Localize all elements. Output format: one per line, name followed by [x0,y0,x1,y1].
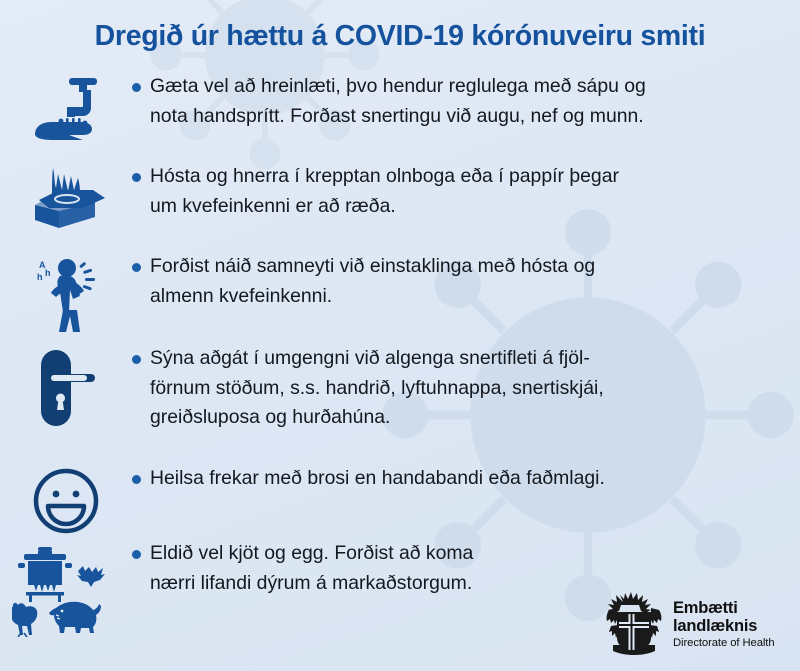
advice-line: almenn kvefeinkenni. [150,282,770,312]
logo-line-3: Directorate of Health [673,636,775,651]
organization-logo: Embætti landlæknis Directorate of Health [603,592,775,658]
logo-text: Embætti landlæknis Directorate of Health [673,599,775,651]
advice-text: Gæta vel að hreinlæti, þvo hendur reglul… [132,72,770,131]
advice-line: nota handsprítt. Forðast snertingu við a… [150,102,770,132]
door-handle-icon [31,346,101,430]
list-item: Gæta vel að hreinlæti, þvo hendur reglul… [0,72,800,162]
bullet-marker [132,83,141,92]
advice-line: greiðsluposa og hurðahúna. [150,403,770,433]
icon-cell [0,72,132,146]
advice-line: Gæta vel að hreinlæti, þvo hendur reglul… [150,72,770,102]
advice-text: Heilsa frekar með brosi en handabandi eð… [132,464,770,494]
advice-line: Sýna aðgát í umgengni við algenga snerti… [150,344,770,374]
text-cell: Hósta og hnerra í krepptan olnboga eða í… [132,162,800,221]
chicken-icon [12,603,37,637]
advice-line: förnum stöðum, s.s. handrið, lyftuhnappa… [150,374,770,404]
text-cell: Gæta vel að hreinlæti, þvo hendur reglul… [132,72,800,131]
list-item: Sýna aðgát í umgengni við algenga snerti… [0,344,800,464]
text-cell: Forðist náið samneyti við einstaklinga m… [132,252,800,311]
cooking-animals-icon [12,545,120,637]
text-cell: Heilsa frekar með brosi en handabandi eð… [132,464,800,494]
list-item: Hósta og hnerra í krepptan olnboga eða í… [0,162,800,252]
icon-cell [0,539,132,637]
icon-cell [0,344,132,430]
bullet-marker [132,550,141,559]
list-item: A h h Forðist náið samneyti við einstakl… [0,252,800,344]
bat-icon [77,566,105,587]
logo-line-1: Embætti [673,599,775,617]
list-item: Heilsa frekar með brosi en handabandi eð… [0,464,800,539]
icon-cell: A h h [0,252,132,334]
pig-icon [49,602,101,633]
svg-text:h: h [37,272,43,282]
icon-cell [0,464,132,536]
logo-line-2: landlæknis [673,617,775,635]
infographic-poster: Dregið úr hættu á COVID-19 kórónuveiru s… [0,0,800,671]
advice-text: Sýna aðgát í umgengni við algenga snerti… [132,344,770,433]
cooking-pot-icon [18,547,72,602]
advice-line: Heilsa frekar með brosi en handabandi eð… [150,464,770,494]
advice-line: um kvefeinkenni er að ræða. [150,192,770,222]
bullet-marker [132,475,141,484]
advice-text: Hósta og hnerra í krepptan olnboga eða í… [132,162,770,221]
advice-line: Eldið vel kjöt og egg. Forðist að koma [150,539,770,569]
tissue-box-icon [25,164,107,230]
svg-text:h: h [45,268,51,278]
advice-line: Forðist náið samneyti við einstaklinga m… [150,252,770,282]
text-cell: Sýna aðgát í umgengni við algenga snerti… [132,344,800,433]
advice-list: Gæta vel að hreinlæti, þvo hendur reglul… [0,72,800,639]
smiley-face-icon [31,466,101,536]
bullet-marker [132,355,141,364]
bullet-marker [132,173,141,182]
page-title: Dregið úr hættu á COVID-19 kórónuveiru s… [0,20,800,53]
advice-line: Hósta og hnerra í krepptan olnboga eða í… [150,162,770,192]
bullet-marker [132,263,141,272]
iceland-coat-of-arms-icon [603,592,665,658]
handwashing-faucet-icon [27,74,105,146]
advice-text: Eldið vel kjöt og egg. Forðist að koma n… [132,539,770,598]
icon-cell [0,162,132,230]
advice-text: Forðist náið samneyti við einstaklinga m… [132,252,770,311]
text-cell: Eldið vel kjöt og egg. Forðist að koma n… [132,539,800,598]
sneezing-person-icon: A h h [33,254,99,334]
